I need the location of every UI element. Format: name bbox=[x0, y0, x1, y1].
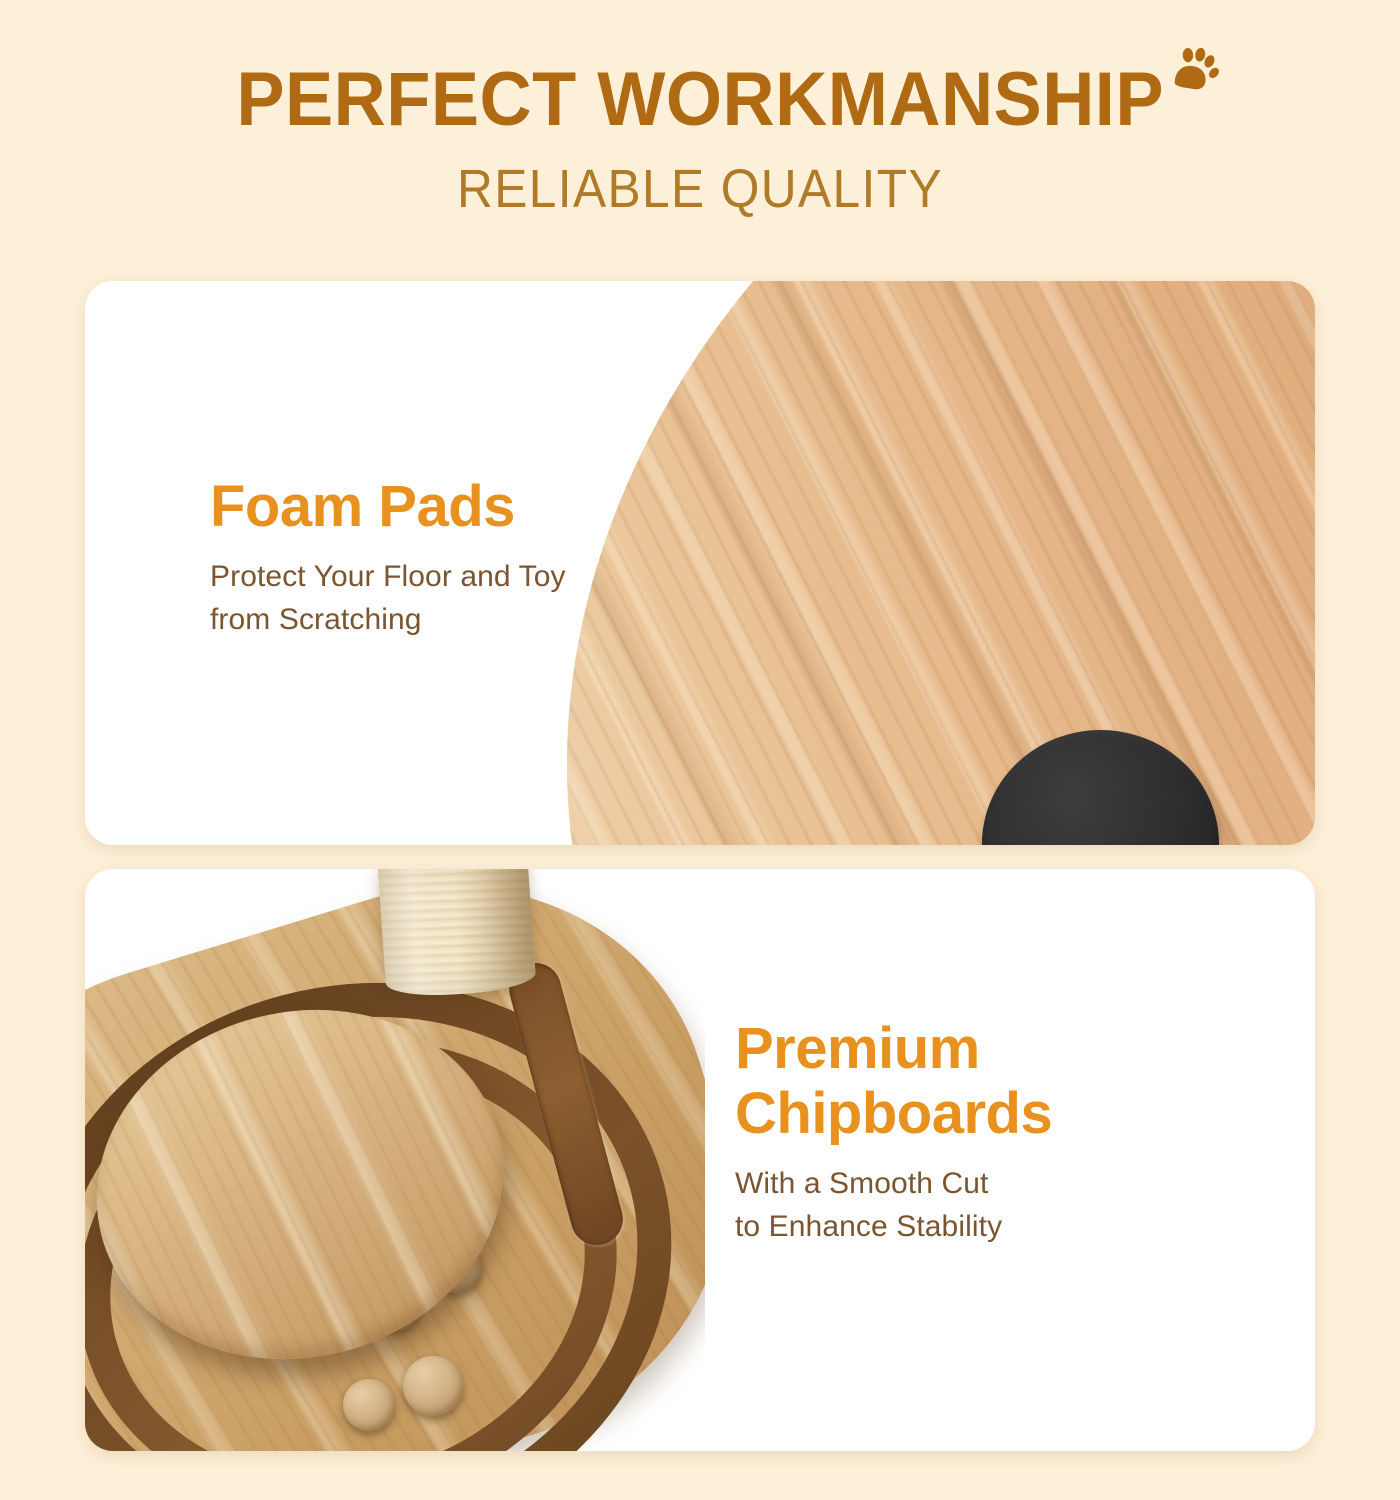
premium-chipboards-subtitle: With a Smooth Cut to Enhance Stability bbox=[735, 1163, 1165, 1248]
foam-pads-subtitle: Protect Your Floor and Toy from Scratchi… bbox=[210, 556, 640, 641]
premium-chipboards-subtitle-line-1: With a Smooth Cut bbox=[735, 1167, 988, 1200]
foam-pads-subtitle-line-1: Protect Your Floor and Toy bbox=[210, 560, 566, 593]
wooden-ball bbox=[343, 1379, 395, 1431]
header-banner: PERFECT WORKMANSHIP RELIABLE QUALITY bbox=[0, 0, 1400, 250]
page-title: PERFECT WORKMANSHIP bbox=[236, 62, 1164, 138]
chipboard-track-base-photo bbox=[85, 869, 705, 1451]
sisal-rope-post bbox=[377, 869, 536, 999]
wooden-ball bbox=[403, 1356, 463, 1416]
premium-chipboards-text-block: Premium Chipboards With a Smooth Cut to … bbox=[735, 1017, 1165, 1248]
page-subtitle: RELIABLE QUALITY bbox=[56, 162, 1344, 216]
premium-chipboards-title: Premium Chipboards bbox=[735, 1017, 1165, 1147]
premium-chipboards-title-line-1: Premium bbox=[735, 1016, 980, 1081]
feature-card-premium-chipboards: Premium Chipboards With a Smooth Cut to … bbox=[85, 869, 1315, 1451]
premium-chipboards-subtitle-line-2: to Enhance Stability bbox=[735, 1206, 1165, 1249]
premium-chipboards-title-line-2: Chipboards bbox=[735, 1082, 1165, 1147]
foam-pads-subtitle-line-2: from Scratching bbox=[210, 599, 640, 642]
foam-pads-text-block: Foam Pads Protect Your Floor and Toy fro… bbox=[210, 475, 640, 641]
feature-card-foam-pads: Foam Pads Protect Your Floor and Toy fro… bbox=[85, 281, 1315, 845]
foam-pads-title: Foam Pads bbox=[210, 475, 640, 540]
